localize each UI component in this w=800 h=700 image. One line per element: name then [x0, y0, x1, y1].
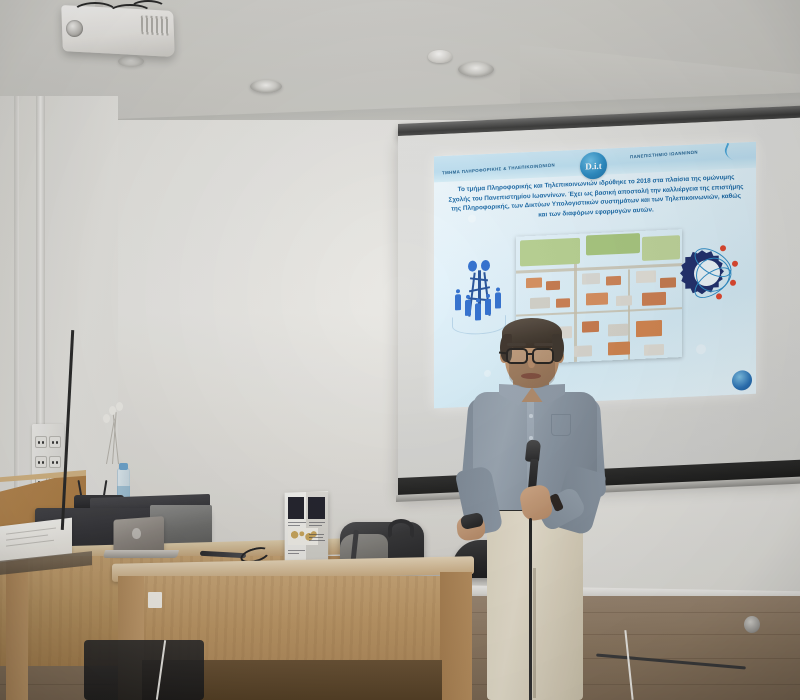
slide-corner-badge	[732, 370, 752, 391]
mouth	[521, 373, 541, 379]
dit-logo-icon: D.i.t	[580, 152, 607, 180]
microphone-cable	[529, 518, 532, 700]
projector-cable	[130, 0, 166, 16]
shirt-pocket	[551, 414, 571, 436]
gear-atom-icon	[680, 242, 742, 307]
decorative-flowers	[96, 402, 136, 464]
caster-wheel-icon	[744, 616, 760, 633]
eyeglasses-bridge	[527, 353, 533, 355]
laptop-base	[103, 550, 179, 558]
backpack-handle	[388, 519, 414, 539]
downlight-icon	[250, 80, 282, 93]
lecture-room-photo: ΤΜΗΜΑ ΠΛΗΡΟΦΟΡΙΚΗΣ & ΤΗΛΕΠΙΚΟΙΝΩΝΙΩΝ ΠΑΝ…	[0, 0, 800, 700]
power-socket[interactable]	[35, 436, 47, 448]
desk-label-sticker	[148, 592, 162, 608]
eyeglasses-icon	[532, 348, 554, 364]
eyebrow	[507, 343, 526, 346]
back-desk-leg	[6, 556, 28, 700]
eyeglasses-icon	[506, 348, 528, 364]
chair-back-left	[84, 640, 204, 700]
slide-body-text: Το τμήμα Πληροφορικής και Τηλεπικοινωνιώ…	[446, 172, 746, 224]
eyebrow	[534, 343, 553, 346]
power-socket[interactable]	[49, 436, 61, 448]
power-socket[interactable]	[35, 456, 47, 468]
bottle-cap-icon	[119, 463, 128, 470]
downlight-icon	[458, 62, 494, 77]
trouser-seam	[533, 568, 536, 698]
power-socket[interactable]	[49, 456, 61, 468]
apple-logo-icon	[132, 528, 141, 539]
smoke-detector-icon	[428, 50, 452, 63]
speaker-person	[455, 318, 615, 700]
front-desk-leg	[440, 572, 472, 700]
downlight-icon	[118, 56, 144, 67]
